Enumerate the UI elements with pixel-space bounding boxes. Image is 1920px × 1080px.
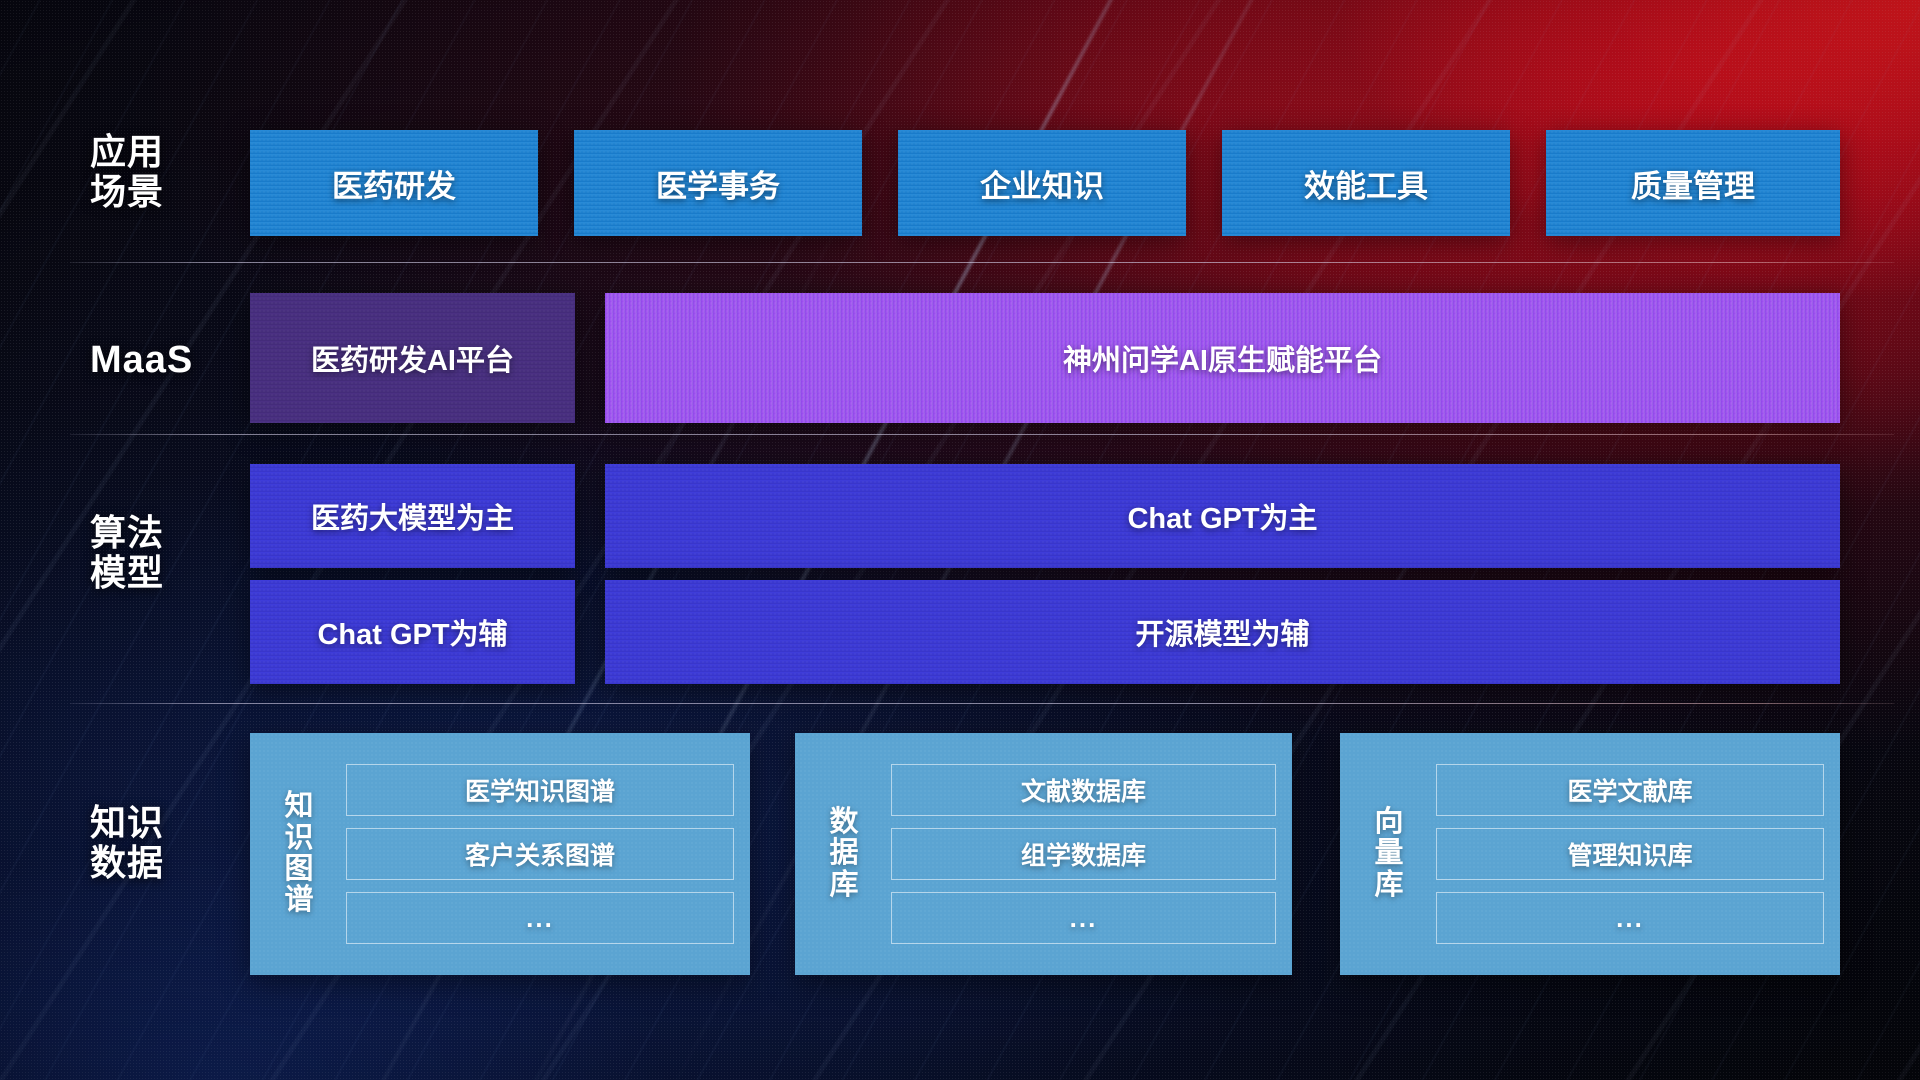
knowledge-item-label: ... (1616, 903, 1644, 934)
row-label-line: 应用 (90, 132, 240, 172)
algo-card-label: Chat GPT为辅 (317, 611, 507, 653)
knowledge-title-char: 知 (284, 791, 313, 822)
row-label-line: 算法 (90, 513, 240, 553)
knowledge-group-title: 数 据 库 (811, 747, 877, 961)
knowledge-item-list: 文献数据库 组学数据库 ... (877, 747, 1276, 961)
app-card-label: 医药研发 (332, 161, 456, 206)
algo-card-secondary-right[interactable]: 开源模型为辅 (605, 580, 1840, 684)
knowledge-title-char: 库 (829, 870, 858, 901)
app-card-4[interactable]: 质量管理 (1546, 130, 1840, 236)
knowledge-item-label: 客户关系图谱 (465, 836, 615, 872)
knowledge-group-database[interactable]: 数 据 库 文献数据库 组学数据库 ... (795, 733, 1292, 975)
row-label-line: 知识 (90, 803, 240, 843)
knowledge-item-more[interactable]: ... (891, 892, 1276, 944)
knowledge-title-char: 量 (1374, 838, 1403, 869)
knowledge-item-label: 组学数据库 (1021, 836, 1146, 872)
knowledge-title-char: 图 (284, 854, 313, 885)
app-card-2[interactable]: 企业知识 (898, 130, 1186, 236)
knowledge-title-char: 向 (1374, 807, 1403, 838)
knowledge-item-list: 医学知识图谱 客户关系图谱 ... (332, 747, 734, 961)
knowledge-title-char: 库 (1374, 870, 1403, 901)
app-card-label: 医学事务 (656, 161, 780, 206)
knowledge-item[interactable]: 组学数据库 (891, 828, 1276, 880)
knowledge-item-label: 管理知识库 (1567, 836, 1692, 872)
algo-card-secondary-left[interactable]: Chat GPT为辅 (250, 580, 575, 684)
maas-card-platform[interactable]: 医药研发AI平台 (250, 293, 575, 423)
app-card-label: 质量管理 (1631, 161, 1755, 206)
row-label-line: MaaS (90, 339, 240, 382)
knowledge-item[interactable]: 医学文献库 (1436, 764, 1824, 816)
knowledge-item[interactable]: 管理知识库 (1436, 828, 1824, 880)
row-divider-2 (70, 434, 1894, 435)
app-card-3[interactable]: 效能工具 (1222, 130, 1510, 236)
knowledge-group-title: 知 识 图 谱 (266, 747, 332, 961)
architecture-diagram: 应用 场景 医药研发 医学事务 企业知识 效能工具 质量管理 MaaS 医药研发… (0, 0, 1920, 1080)
app-card-label: 企业知识 (980, 161, 1104, 206)
knowledge-group-title: 向 量 库 (1356, 747, 1422, 961)
maas-card-label: 医药研发AI平台 (311, 337, 514, 379)
app-card-0[interactable]: 医药研发 (250, 130, 538, 236)
knowledge-item-label: 医学知识图谱 (465, 772, 615, 808)
row-label-knowledge-data: 知识 数据 (90, 803, 240, 884)
row-label-application-scenario: 应用 场景 (90, 132, 240, 213)
knowledge-title-char: 数 (829, 807, 858, 838)
knowledge-item-label: 文献数据库 (1021, 772, 1146, 808)
app-card-label: 效能工具 (1304, 161, 1428, 206)
row-label-line: 场景 (90, 172, 240, 212)
knowledge-item-more[interactable]: ... (1436, 892, 1824, 944)
knowledge-title-char: 据 (829, 838, 858, 869)
row-label-algorithm-model: 算法 模型 (90, 513, 240, 594)
knowledge-item[interactable]: 文献数据库 (891, 764, 1276, 816)
algo-card-primary-right[interactable]: Chat GPT为主 (605, 464, 1840, 568)
maas-card-enablement[interactable]: 神州问学AI原生赋能平台 (605, 293, 1840, 423)
knowledge-title-char: 谱 (284, 885, 313, 916)
knowledge-item-label: ... (1070, 903, 1098, 934)
knowledge-item-more[interactable]: ... (346, 892, 734, 944)
knowledge-item-list: 医学文献库 管理知识库 ... (1422, 747, 1824, 961)
knowledge-item[interactable]: 客户关系图谱 (346, 828, 734, 880)
knowledge-item-label: 医学文献库 (1567, 772, 1692, 808)
algo-card-label: 医药大模型为主 (311, 495, 514, 537)
row-label-line: 模型 (90, 553, 240, 593)
row-divider-3 (70, 703, 1894, 704)
row-divider-1 (70, 262, 1894, 263)
algo-card-label: Chat GPT为主 (1127, 495, 1317, 537)
knowledge-item[interactable]: 医学知识图谱 (346, 764, 734, 816)
knowledge-title-char: 识 (284, 823, 313, 854)
row-label-line: 数据 (90, 843, 240, 883)
knowledge-group-vector-store[interactable]: 向 量 库 医学文献库 管理知识库 ... (1340, 733, 1840, 975)
knowledge-item-label: ... (526, 903, 554, 934)
app-card-1[interactable]: 医学事务 (574, 130, 862, 236)
row-label-maas: MaaS (90, 339, 240, 382)
knowledge-group-knowledge-graph[interactable]: 知 识 图 谱 医学知识图谱 客户关系图谱 ... (250, 733, 750, 975)
algo-card-primary-left[interactable]: 医药大模型为主 (250, 464, 575, 568)
algo-card-label: 开源模型为辅 (1135, 611, 1309, 653)
maas-card-label: 神州问学AI原生赋能平台 (1063, 337, 1382, 379)
